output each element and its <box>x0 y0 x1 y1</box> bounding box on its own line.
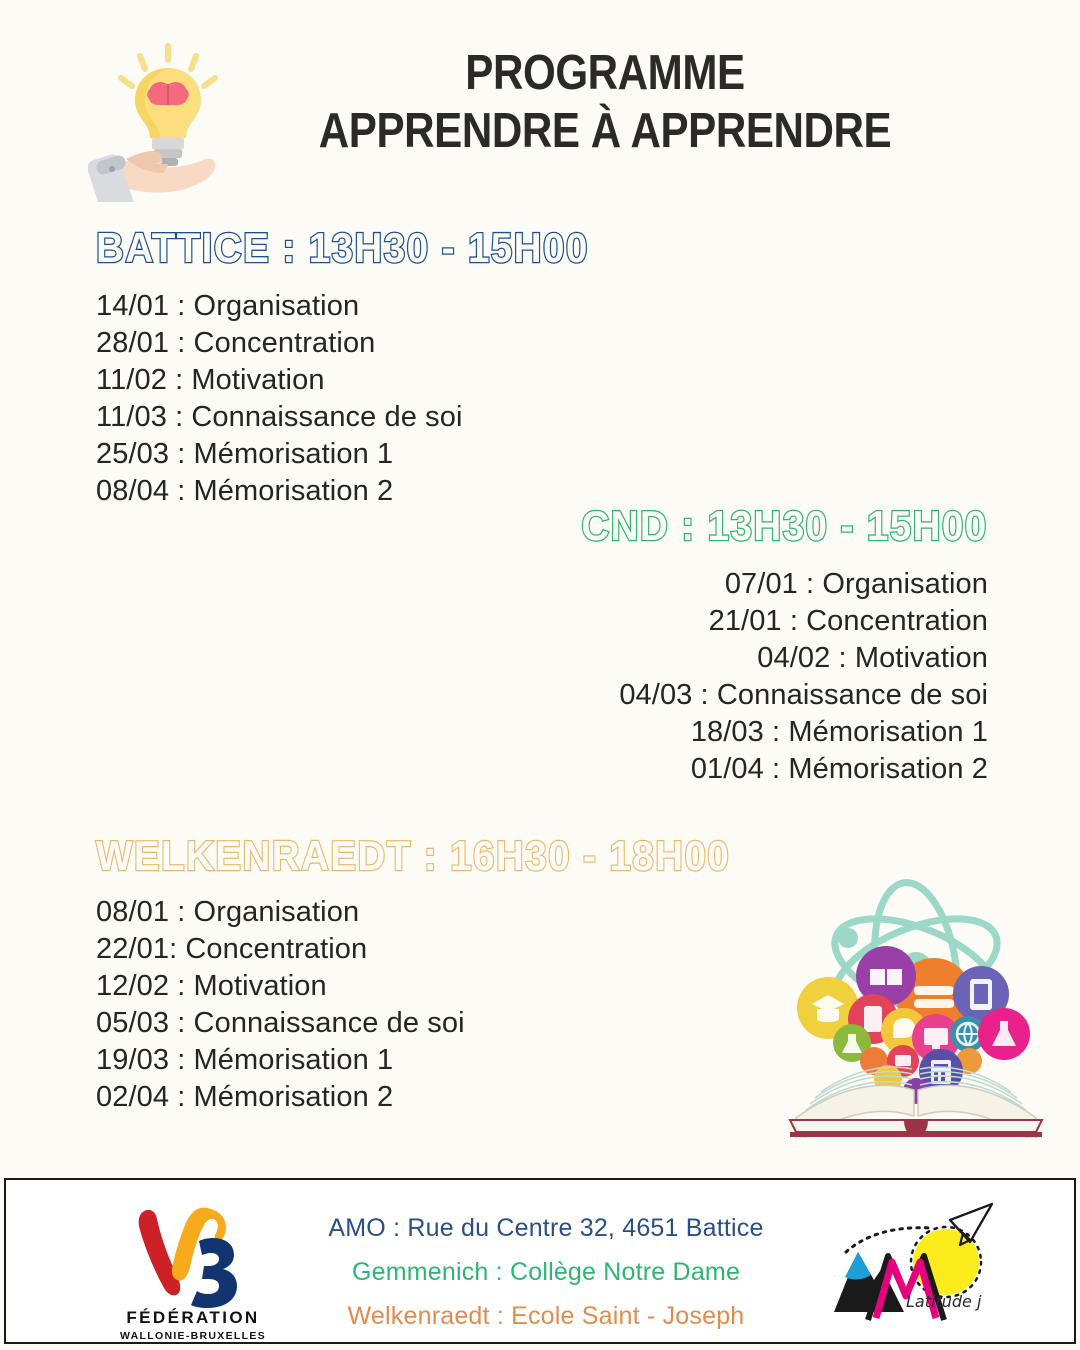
list-item: 25/03 : Mémorisation 1 <box>96 436 463 473</box>
list-item: 12/02 : Motivation <box>96 968 465 1005</box>
amo-wordmark: Latitude j <box>906 1292 981 1311</box>
section-heading-battice: BATTICE : 13H30 - 15H00 <box>96 226 589 270</box>
list-item: 18/03 : Mémorisation 1 <box>619 714 988 751</box>
list-item: 19/03 : Mémorisation 1 <box>96 1042 465 1079</box>
session-list-cnd: 07/01 : Organisation 21/01 : Concentrati… <box>619 566 988 788</box>
list-item: 02/04 : Mémorisation 2 <box>96 1079 465 1116</box>
list-item: 04/02 : Motivation <box>619 640 988 677</box>
address-welkenraedt: Welkenraedt : Ecole Saint - Joseph <box>286 1294 806 1338</box>
federation-wordmark: FÉDÉRATION WALLONIE-BRUXELLES <box>98 1308 288 1342</box>
list-item: 07/01 : Organisation <box>619 566 988 603</box>
address-amo: AMO : Rue du Centre 32, 4651 Battice <box>286 1206 806 1250</box>
list-item: 01/04 : Mémorisation 2 <box>619 751 988 788</box>
list-item: 14/01 : Organisation <box>96 288 463 325</box>
session-list-welkenraedt: 08/01 : Organisation 22/01: Concentratio… <box>96 894 465 1116</box>
list-item: 28/01 : Concentration <box>96 325 463 362</box>
footer-bar: FÉDÉRATION WALLONIE-BRUXELLES AMO : Rue … <box>4 1178 1076 1344</box>
page-title-line2: APPRENDRE À APPRENDRE <box>304 102 906 160</box>
address-gemmenich: Gemmenich : Collège Notre Dame <box>286 1250 806 1294</box>
federation-line1: FÉDÉRATION <box>98 1308 288 1328</box>
list-item: 04/03 : Connaissance de soi <box>619 677 988 714</box>
list-item: 08/04 : Mémorisation 2 <box>96 473 463 510</box>
open-book-atom-icon <box>776 876 1056 1138</box>
session-list-battice: 14/01 : Organisation 28/01 : Concentrati… <box>96 288 463 510</box>
footer-addresses: AMO : Rue du Centre 32, 4651 Battice Gem… <box>286 1206 806 1338</box>
list-item: 08/01 : Organisation <box>96 894 465 931</box>
section-heading-cnd: CND : 13H30 - 15H00 <box>582 504 988 548</box>
list-item: 21/01 : Concentration <box>619 603 988 640</box>
list-item: 11/02 : Motivation <box>96 362 463 399</box>
list-item: 11/03 : Connaissance de soi <box>96 399 463 436</box>
list-item: 05/03 : Connaissance de soi <box>96 1005 465 1042</box>
page-title: PROGRAMME APPRENDRE À APPRENDRE <box>304 44 906 160</box>
hand-holding-lightbulb-icon <box>88 32 248 202</box>
federation-wallonie-bruxelles-logo-icon <box>121 1198 261 1320</box>
list-item: 22/01: Concentration <box>96 931 465 968</box>
page-title-line1: PROGRAMME <box>304 44 906 102</box>
federation-line2: WALLONIE-BRUXELLES <box>98 1330 288 1342</box>
section-heading-welkenraedt: WELKENRAEDT : 16H30 - 18H00 <box>96 834 730 878</box>
poster-header: PROGRAMME APPRENDRE À APPRENDRE <box>0 0 1080 200</box>
